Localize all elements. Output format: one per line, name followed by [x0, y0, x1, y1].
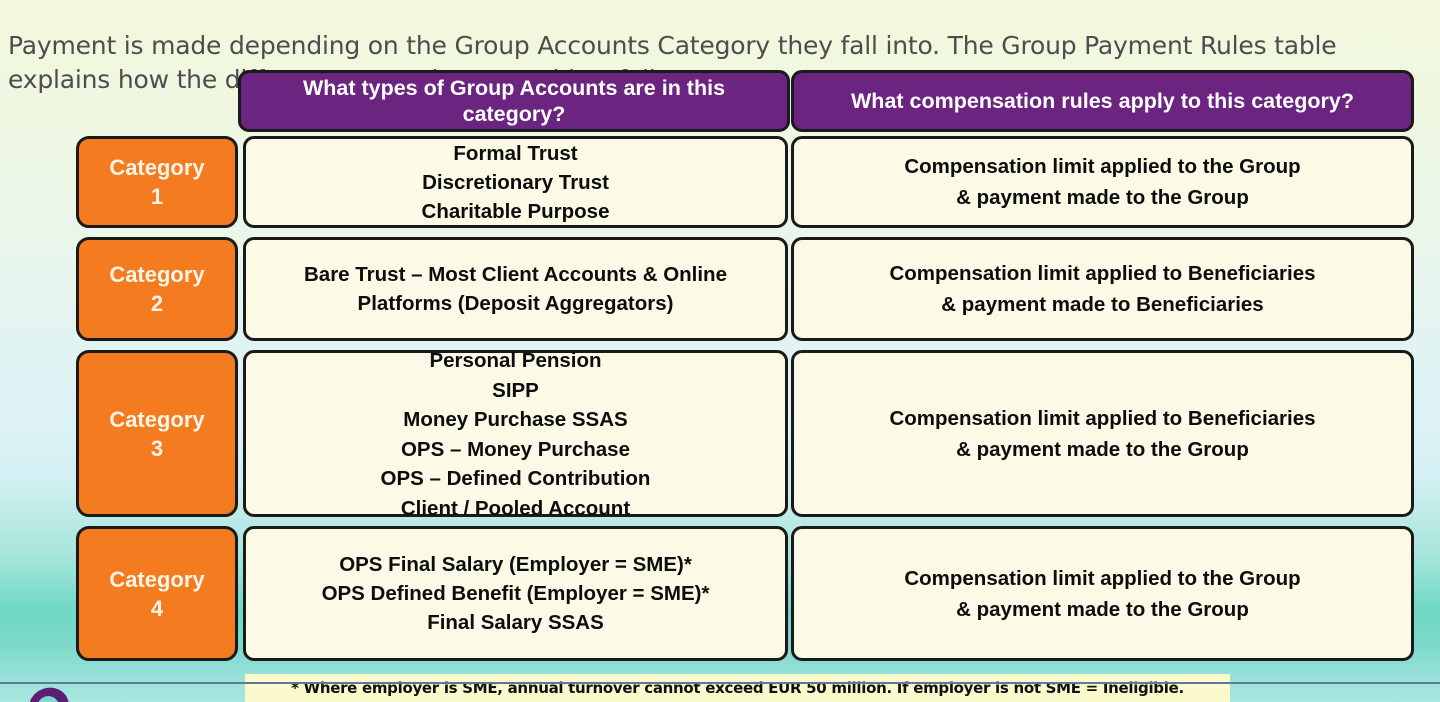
header-types-column: What types of Group Accounts are in this…: [238, 70, 790, 132]
table-row: Category 4 OPS Final Salary (Employer = …: [0, 526, 1440, 663]
rule-line: Compensation limit applied to the Group: [904, 563, 1300, 594]
rule-line: Compensation limit applied to Beneficiar…: [889, 258, 1315, 289]
category-label: Category: [109, 260, 204, 289]
types-cell-1: Formal Trust Discretionary Trust Charita…: [243, 136, 788, 228]
type-line: Money Purchase SSAS: [403, 405, 627, 435]
category-badge-4: Category 4: [76, 526, 238, 661]
type-line: Bare Trust – Most Client Accounts & Onli…: [304, 260, 727, 289]
category-label: Category: [109, 565, 204, 594]
footer-divider: [0, 682, 1440, 684]
type-line: OPS Defined Benefit (Employer = SME)*: [322, 579, 710, 608]
logo-icon: [24, 683, 71, 702]
header-rules-column: What compensation rules apply to this ca…: [791, 70, 1414, 132]
group-payment-rules-table: What types of Group Accounts are in this…: [0, 70, 1440, 670]
rules-cell-1: Compensation limit applied to the Group …: [791, 136, 1414, 228]
category-number: 4: [151, 594, 163, 623]
rule-line: & payment made to Beneficiaries: [941, 289, 1263, 320]
category-badge-1: Category 1: [76, 136, 238, 228]
type-line: Formal Trust: [453, 139, 577, 168]
table-header-row: What types of Group Accounts are in this…: [0, 70, 1440, 136]
slide-canvas: Payment is made depending on the Group A…: [0, 0, 1440, 702]
category-number: 1: [151, 182, 163, 211]
table-row: Category 1 Formal Trust Discretionary Tr…: [0, 136, 1440, 230]
type-line: Client / Pooled Account: [401, 494, 630, 524]
type-line: SIPP: [492, 376, 539, 406]
types-cell-2: Bare Trust – Most Client Accounts & Onli…: [243, 237, 788, 341]
table-row: Category 2 Bare Trust – Most Client Acco…: [0, 237, 1440, 343]
types-cell-4: OPS Final Salary (Employer = SME)* OPS D…: [243, 526, 788, 661]
type-line: OPS – Defined Contribution: [381, 464, 651, 494]
footnote-banner: * Where employer is SME, annual turnover…: [245, 674, 1230, 702]
rules-cell-3: Compensation limit applied to Beneficiar…: [791, 350, 1414, 517]
type-line: Personal Pension: [429, 346, 601, 376]
category-number: 2: [151, 289, 163, 318]
rules-cell-2: Compensation limit applied to Beneficiar…: [791, 237, 1414, 341]
types-cell-3: Personal Pension SIPP Money Purchase SSA…: [243, 350, 788, 517]
rule-line: & payment made to the Group: [956, 182, 1249, 213]
rule-line: & payment made to the Group: [956, 594, 1249, 625]
type-line: Discretionary Trust: [422, 168, 609, 197]
category-badge-3: Category 3: [76, 350, 238, 517]
type-line: Final Salary SSAS: [427, 608, 604, 637]
rules-cell-4: Compensation limit applied to the Group …: [791, 526, 1414, 661]
rule-line: & payment made to the Group: [956, 434, 1249, 465]
category-label: Category: [109, 153, 204, 182]
rule-line: Compensation limit applied to Beneficiar…: [889, 403, 1315, 434]
type-line: Charitable Purpose: [422, 197, 610, 226]
type-line: Platforms (Deposit Aggregators): [358, 289, 674, 318]
type-line: OPS – Money Purchase: [401, 435, 630, 465]
category-label: Category: [109, 405, 204, 434]
rule-line: Compensation limit applied to the Group: [904, 151, 1300, 182]
table-row: Category 3 Personal Pension SIPP Money P…: [0, 350, 1440, 519]
category-badge-2: Category 2: [76, 237, 238, 341]
category-number: 3: [151, 434, 163, 463]
type-line: OPS Final Salary (Employer = SME)*: [339, 550, 692, 579]
